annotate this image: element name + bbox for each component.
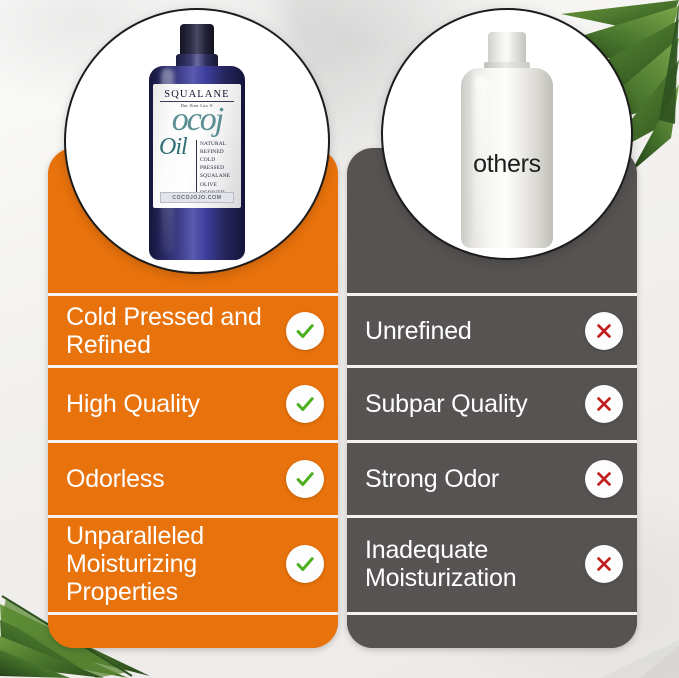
pro-row-4-label: Unparalleled Moisturizing Properties <box>66 522 278 606</box>
bottle-label: SQUALANE Dm Jhon Lux ® ocoj Oil NATURAL … <box>153 84 241 208</box>
bottle-label-specs: NATURAL REFINED COLD PRESSED SQUALANE OL… <box>196 140 238 197</box>
bottle-cap <box>488 32 526 64</box>
pro-row-1[interactable]: Cold Pressed and Refined <box>48 293 338 365</box>
product-circle-others[interactable]: others <box>381 8 633 260</box>
con-row-2-label: Subpar Quality <box>365 390 528 418</box>
cross-icon <box>585 312 623 350</box>
bottle-cap <box>180 24 214 58</box>
con-rows: Unrefined Subpar Quality Strong Odor <box>347 293 637 610</box>
pro-row-2[interactable]: High Quality <box>48 365 338 440</box>
spec-squalane: SQUALANE <box>200 172 238 180</box>
spec-refined: REFINED <box>200 148 238 156</box>
cross-icon <box>585 385 623 423</box>
pro-column-footer <box>48 612 338 648</box>
con-row-3[interactable]: Strong Odor <box>347 440 637 515</box>
check-icon <box>286 460 324 498</box>
con-row-4[interactable]: Inadequate Moisturization <box>347 515 637 610</box>
cross-icon <box>585 460 623 498</box>
others-bottle-image: others <box>461 32 553 248</box>
con-row-1[interactable]: Unrefined <box>347 293 637 365</box>
bottle-label-script-bottom: Oil <box>159 134 187 161</box>
bottle-label-brand: SQUALANE <box>160 89 234 102</box>
check-icon <box>286 312 324 350</box>
pro-row-1-label: Cold Pressed and Refined <box>66 303 278 359</box>
others-bottle-text: others <box>461 150 553 179</box>
con-row-3-label: Strong Odor <box>365 465 499 493</box>
bottle-label-url: COCOJOJO.COM <box>160 192 234 203</box>
pro-row-3[interactable]: Odorless <box>48 440 338 515</box>
cocojojo-bottle-image: SQUALANE Dm Jhon Lux ® ocoj Oil NATURAL … <box>149 24 245 260</box>
pro-rows: Cold Pressed and Refined High Quality Od… <box>48 293 338 610</box>
con-column-footer <box>347 612 637 648</box>
spec-natural: NATURAL <box>200 140 238 148</box>
pro-row-2-label: High Quality <box>66 390 200 418</box>
check-icon <box>286 545 324 583</box>
check-icon <box>286 385 324 423</box>
con-row-4-label: Inadequate Moisturization <box>365 536 577 592</box>
product-circle-cocojojo[interactable]: SQUALANE Dm Jhon Lux ® ocoj Oil NATURAL … <box>64 8 330 274</box>
con-row-1-label: Unrefined <box>365 317 472 345</box>
pro-row-3-label: Odorless <box>66 465 164 493</box>
con-row-2[interactable]: Subpar Quality <box>347 365 637 440</box>
spec-cold-pressed: COLD PRESSED <box>200 156 238 172</box>
comparison-container: Cold Pressed and Refined High Quality Od… <box>0 0 679 678</box>
pro-row-4[interactable]: Unparalleled Moisturizing Properties <box>48 515 338 610</box>
cross-icon <box>585 545 623 583</box>
